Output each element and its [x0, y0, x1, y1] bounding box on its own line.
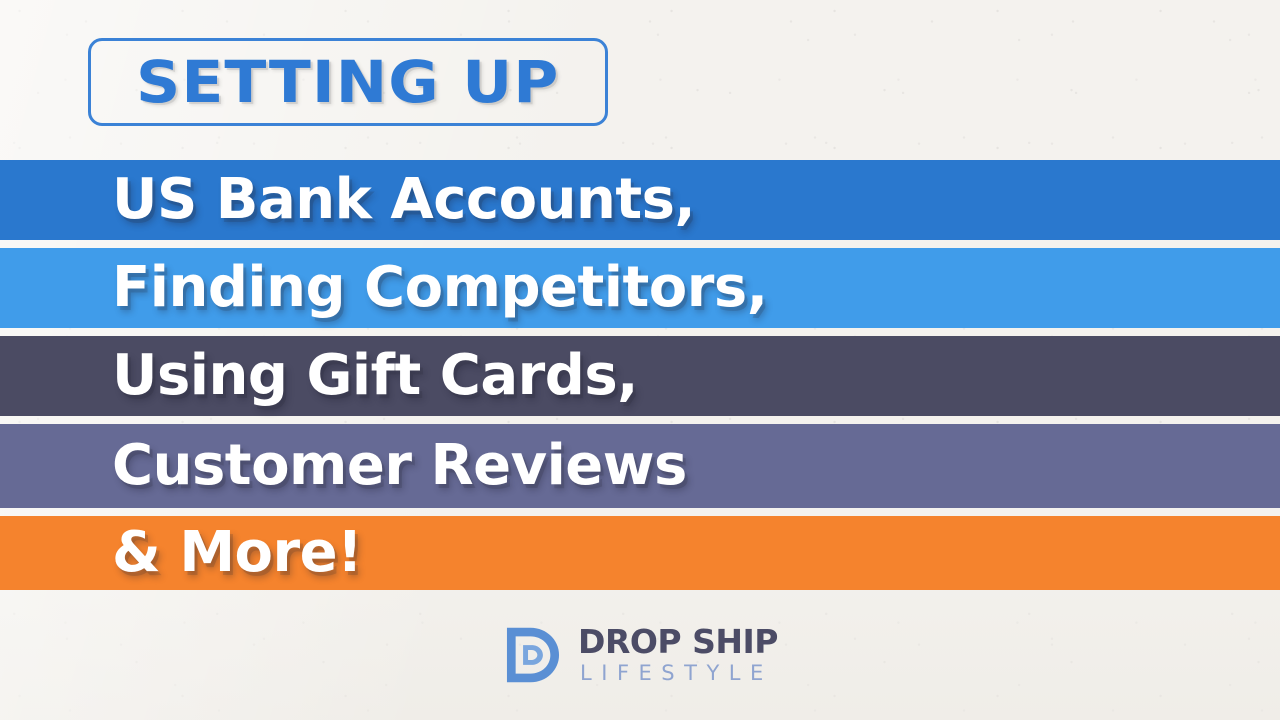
title-band-2-label: Finding Competitors,	[0, 260, 767, 316]
kicker-box: SETTING UP	[88, 38, 608, 126]
slide-canvas: SETTING UP US Bank Accounts, Finding Com…	[0, 0, 1280, 720]
title-band-2: Finding Competitors,	[0, 248, 1280, 328]
title-band-4-label: Customer Reviews	[0, 438, 687, 494]
logo-wordmark: DROP SHIP	[578, 625, 778, 659]
title-band-3: Using Gift Cards,	[0, 336, 1280, 416]
title-band-4: Customer Reviews	[0, 424, 1280, 508]
title-band-1-label: US Bank Accounts,	[0, 172, 695, 228]
title-band-5-label: & More!	[0, 525, 362, 581]
brand-logo: DROP SHIP LIFESTYLE	[0, 618, 1280, 692]
title-band-5: & More!	[0, 516, 1280, 590]
title-band-3-label: Using Gift Cards,	[0, 348, 638, 404]
logo-text-block: DROP SHIP LIFESTYLE	[578, 625, 778, 686]
drop-ship-lifestyle-monogram-icon	[502, 624, 564, 686]
title-band-1: US Bank Accounts,	[0, 160, 1280, 240]
logo-tagline: LIFESTYLE	[578, 661, 778, 685]
kicker-label: SETTING UP	[136, 53, 559, 111]
